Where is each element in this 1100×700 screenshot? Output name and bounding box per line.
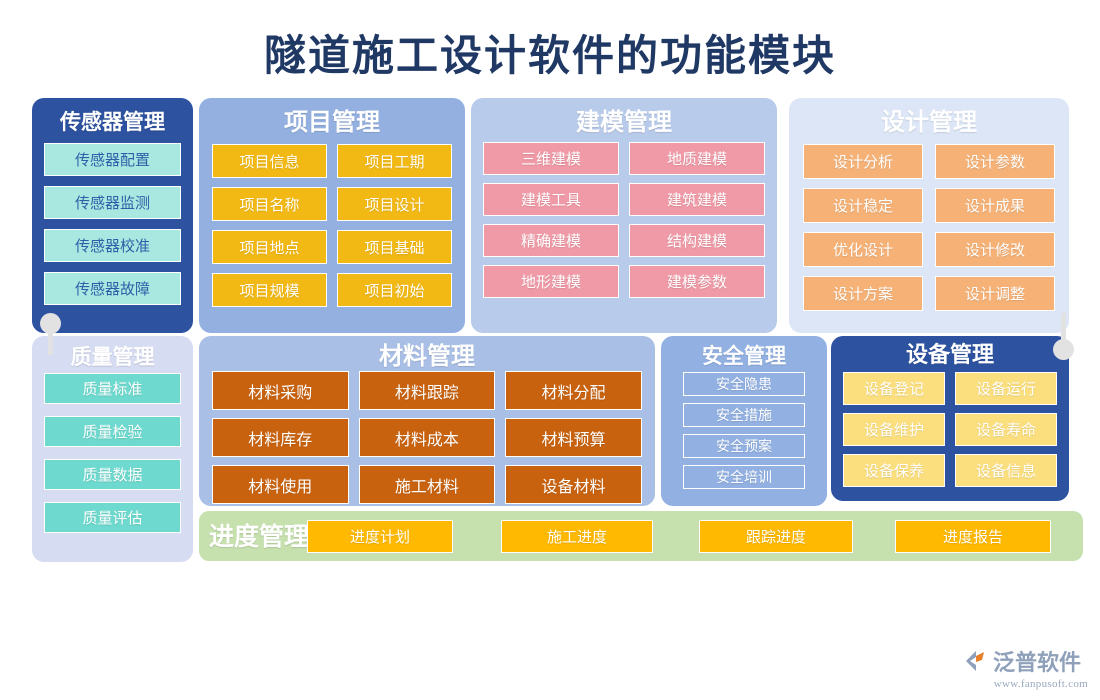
module-chip[interactable]: 项目基础 bbox=[337, 230, 452, 264]
panel-items-project: 项目信息 项目工期 项目名称 项目设计 项目地点 项目基础 项目规模 项目初始 bbox=[199, 134, 465, 307]
module-chip[interactable]: 安全预案 bbox=[683, 434, 805, 458]
module-chip[interactable]: 设计调整 bbox=[935, 276, 1055, 311]
module-chip[interactable]: 传感器配置 bbox=[44, 143, 181, 176]
module-chip[interactable]: 设备寿命 bbox=[955, 413, 1057, 446]
module-chip[interactable]: 三维建模 bbox=[483, 142, 619, 175]
panel-quality-management[interactable]: 质量管理 质量标准 质量检验 质量数据 质量评估 bbox=[32, 336, 193, 562]
panel-items-progress: 进度计划 施工进度 跟踪进度 进度报告 bbox=[305, 520, 1083, 553]
panel-title-design: 设计管理 bbox=[789, 98, 1069, 134]
panel-title-safety: 安全管理 bbox=[661, 336, 827, 366]
panel-items-design: 设计分析 设计参数 设计稳定 设计成果 优化设计 设计修改 设计方案 设计调整 bbox=[789, 134, 1069, 311]
module-chip[interactable]: 材料采购 bbox=[212, 371, 349, 410]
connector-pin-left bbox=[40, 313, 61, 359]
module-chip[interactable]: 地形建模 bbox=[483, 265, 619, 298]
connector-head bbox=[40, 313, 61, 334]
module-chip[interactable]: 材料跟踪 bbox=[359, 371, 496, 410]
module-chip[interactable]: 建筑建模 bbox=[629, 183, 765, 216]
panel-items-sensor: 传感器配置 传感器监测 传感器校准 传感器故障 bbox=[32, 132, 193, 305]
module-chip[interactable]: 设备保养 bbox=[843, 454, 945, 487]
connector-pin-right bbox=[1053, 309, 1074, 361]
panel-material-management[interactable]: 材料管理 材料采购 材料跟踪 材料分配 材料库存 材料成本 材料预算 材料使用 … bbox=[199, 336, 655, 506]
panel-items-modeling: 三维建模 地质建模 建模工具 建筑建模 精确建模 结构建模 地形建模 建模参数 bbox=[471, 134, 777, 298]
panel-title-project: 项目管理 bbox=[199, 98, 465, 134]
module-chip[interactable]: 项目名称 bbox=[212, 187, 327, 221]
module-chip[interactable]: 质量检验 bbox=[44, 416, 181, 447]
module-chip[interactable]: 安全培训 bbox=[683, 465, 805, 489]
module-chip[interactable]: 建模参数 bbox=[629, 265, 765, 298]
module-chip[interactable]: 材料预算 bbox=[505, 418, 642, 457]
module-chip[interactable]: 传感器校准 bbox=[44, 229, 181, 262]
logo-url: www.fanpusoft.com bbox=[963, 678, 1088, 690]
panel-title-progress: 进度管理 bbox=[209, 524, 309, 549]
panel-title-sensor: 传感器管理 bbox=[32, 98, 193, 132]
module-chip[interactable]: 设计成果 bbox=[935, 188, 1055, 223]
module-chip[interactable]: 设备登记 bbox=[843, 372, 945, 405]
panel-project-management[interactable]: 项目管理 项目信息 项目工期 项目名称 项目设计 项目地点 项目基础 项目规模 … bbox=[199, 98, 465, 333]
brand-logo: 泛普软件 www.fanpusoft.com bbox=[963, 645, 1088, 690]
fanpu-logo-icon bbox=[963, 648, 989, 674]
module-chip[interactable]: 材料使用 bbox=[212, 465, 349, 504]
module-chip[interactable]: 质量评估 bbox=[44, 502, 181, 533]
module-chip[interactable]: 项目信息 bbox=[212, 144, 327, 178]
module-chip[interactable]: 项目地点 bbox=[212, 230, 327, 264]
module-chip[interactable]: 项目初始 bbox=[337, 273, 452, 307]
module-chip[interactable]: 地质建模 bbox=[629, 142, 765, 175]
module-chip[interactable]: 跟踪进度 bbox=[699, 520, 853, 553]
module-chip[interactable]: 设备运行 bbox=[955, 372, 1057, 405]
module-chip[interactable]: 传感器监测 bbox=[44, 186, 181, 219]
module-chip[interactable]: 设计稳定 bbox=[803, 188, 923, 223]
module-chip[interactable]: 项目设计 bbox=[337, 187, 452, 221]
module-chip[interactable]: 质量标准 bbox=[44, 373, 181, 404]
module-chip[interactable]: 结构建模 bbox=[629, 224, 765, 257]
module-chip[interactable]: 进度计划 bbox=[307, 520, 453, 553]
module-chip[interactable]: 设备维护 bbox=[843, 413, 945, 446]
panel-items-equipment: 设备登记 设备运行 设备维护 设备寿命 设备保养 设备信息 bbox=[831, 366, 1069, 487]
module-chip[interactable]: 设计参数 bbox=[935, 144, 1055, 179]
module-chip[interactable]: 质量数据 bbox=[44, 459, 181, 490]
panel-progress-management[interactable]: 进度管理 进度计划 施工进度 跟踪进度 进度报告 bbox=[199, 511, 1083, 561]
module-chip[interactable]: 优化设计 bbox=[803, 232, 923, 267]
panel-title-modeling: 建模管理 bbox=[471, 98, 777, 134]
module-chip[interactable]: 安全隐患 bbox=[683, 372, 805, 396]
module-chip[interactable]: 施工进度 bbox=[501, 520, 653, 553]
module-chip[interactable]: 材料分配 bbox=[505, 371, 642, 410]
module-chip[interactable]: 设备材料 bbox=[505, 465, 642, 504]
module-chip[interactable]: 材料库存 bbox=[212, 418, 349, 457]
module-chip[interactable]: 传感器故障 bbox=[44, 272, 181, 305]
module-chip[interactable]: 设计方案 bbox=[803, 276, 923, 311]
connector-head bbox=[1053, 339, 1074, 360]
module-chip[interactable]: 安全措施 bbox=[683, 403, 805, 427]
panel-modeling-management[interactable]: 建模管理 三维建模 地质建模 建模工具 建筑建模 精确建模 结构建模 地形建模 … bbox=[471, 98, 777, 333]
module-chip[interactable]: 设计修改 bbox=[935, 232, 1055, 267]
module-chip[interactable]: 建模工具 bbox=[483, 183, 619, 216]
panel-title-material: 材料管理 bbox=[199, 336, 655, 368]
panel-safety-management[interactable]: 安全管理 安全隐患 安全措施 安全预案 安全培训 bbox=[661, 336, 827, 506]
module-chip[interactable]: 进度报告 bbox=[895, 520, 1051, 553]
module-chip[interactable]: 材料成本 bbox=[359, 418, 496, 457]
module-chip[interactable]: 施工材料 bbox=[359, 465, 496, 504]
diagram-canvas: 隧道施工设计软件的功能模块 传感器管理 传感器配置 传感器监测 传感器校准 传感… bbox=[0, 0, 1100, 700]
module-chip[interactable]: 设计分析 bbox=[803, 144, 923, 179]
module-chip[interactable]: 设备信息 bbox=[955, 454, 1057, 487]
panel-sensor-management[interactable]: 传感器管理 传感器配置 传感器监测 传感器校准 传感器故障 bbox=[32, 98, 193, 333]
panel-equipment-management[interactable]: 设备管理 设备登记 设备运行 设备维护 设备寿命 设备保养 设备信息 bbox=[831, 336, 1069, 501]
panel-items-safety: 安全隐患 安全措施 安全预案 安全培训 bbox=[661, 366, 827, 489]
page-title: 隧道施工设计软件的功能模块 bbox=[0, 22, 1100, 83]
module-chip[interactable]: 精确建模 bbox=[483, 224, 619, 257]
panel-items-quality: 质量标准 质量检验 质量数据 质量评估 bbox=[32, 367, 193, 533]
module-chip[interactable]: 项目工期 bbox=[337, 144, 452, 178]
panel-design-management[interactable]: 设计管理 设计分析 设计参数 设计稳定 设计成果 优化设计 设计修改 设计方案 … bbox=[789, 98, 1069, 333]
panel-items-material: 材料采购 材料跟踪 材料分配 材料库存 材料成本 材料预算 材料使用 施工材料 … bbox=[199, 368, 655, 504]
logo-name: 泛普软件 bbox=[993, 645, 1081, 677]
panel-title-equipment: 设备管理 bbox=[831, 336, 1069, 366]
module-chip[interactable]: 项目规模 bbox=[212, 273, 327, 307]
